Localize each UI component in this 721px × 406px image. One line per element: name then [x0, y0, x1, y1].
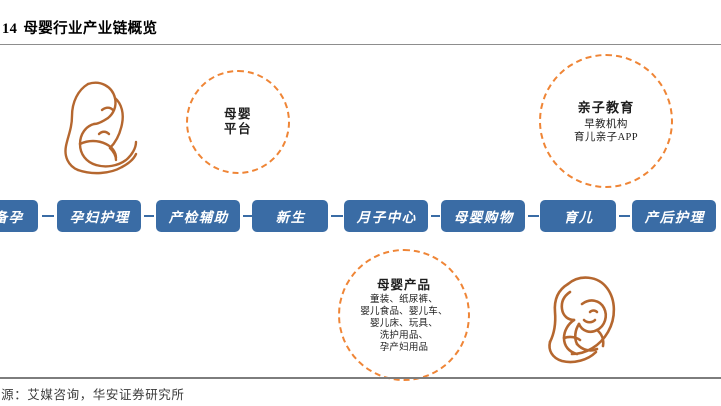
products-line-2: 婴儿食品、婴儿车、	[360, 306, 447, 318]
page-title: 14母婴行业产业链概览	[2, 17, 157, 38]
chain-item-7[interactable]: 产后护理	[632, 200, 716, 232]
chain-connector-1	[144, 215, 154, 219]
education-title: 亲子教育	[578, 99, 635, 117]
products-title: 母婴产品	[377, 277, 431, 293]
platform-title-line1: 母婴	[224, 107, 252, 122]
industry-chain: 备孕 孕妇护理 产检辅助 新生 月子中心 母婴购物 育儿 产后护理	[0, 200, 721, 232]
chain-item-2[interactable]: 产检辅助	[156, 200, 240, 232]
figure-title-text: 母婴行业产业链概览	[23, 21, 157, 37]
products-line-5: 孕产妇用品	[380, 342, 429, 354]
source-note: 来源：艾媒咨询，华安证券研究所	[0, 384, 185, 403]
chain-connector-5	[528, 215, 539, 219]
chain-item-6[interactable]: 育儿	[540, 200, 616, 232]
chain-connector-0	[42, 215, 54, 219]
circle-mother-baby-products: 母婴产品 童装、纸尿裤、 婴儿食品、婴儿车、 婴儿床、玩具、 洗护用品、 孕产妇…	[338, 249, 470, 381]
chain-item-5[interactable]: 母婴购物	[441, 200, 525, 232]
figure-number: 14	[2, 21, 17, 37]
chain-item-1[interactable]: 孕妇护理	[57, 200, 141, 232]
products-line-4: 洗护用品、	[380, 330, 429, 342]
figure-header: 14母婴行业产业链概览	[0, 0, 721, 46]
chain-item-0[interactable]: 备孕	[0, 200, 38, 232]
products-line-3: 婴儿床、玩具、	[370, 318, 438, 330]
footer-divider	[0, 377, 721, 379]
education-line-1: 早教机构	[584, 118, 628, 131]
products-line-1: 童装、纸尿裤、	[370, 294, 438, 306]
chain-connector-6	[619, 215, 630, 219]
platform-title-line2: 平台	[224, 122, 252, 137]
chain-item-3[interactable]: 新生	[252, 200, 328, 232]
chain-item-4[interactable]: 月子中心	[344, 200, 428, 232]
circle-mother-baby-platform: 母婴 平台	[186, 70, 290, 174]
mother-and-baby-illustration	[534, 268, 626, 374]
figure-canvas: 母婴 平台 亲子教育 早教机构 育儿亲子APP 备孕 孕妇护理 产检辅助 新生 …	[0, 46, 721, 377]
education-line-2: 育儿亲子APP	[574, 131, 638, 144]
chain-connector-4	[431, 215, 440, 219]
pregnant-woman-illustration	[58, 74, 144, 178]
header-divider	[0, 44, 721, 45]
chain-connector-3	[331, 215, 343, 219]
circle-parent-child-education: 亲子教育 早教机构 育儿亲子APP	[539, 54, 673, 188]
